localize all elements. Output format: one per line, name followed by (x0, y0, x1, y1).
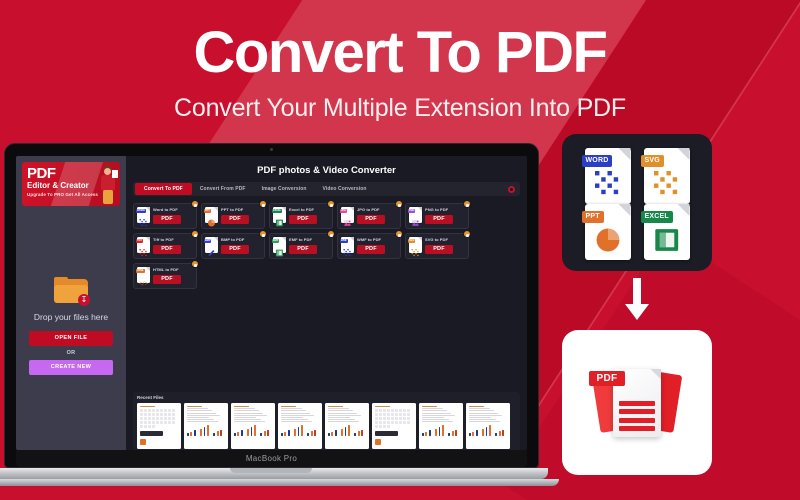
drop-zone-label: Drop your files here (34, 312, 108, 322)
folder-upload-icon: ↧ (54, 277, 88, 303)
conversion-card-label: EMF to PDF (289, 237, 329, 243)
card-badge-icon (191, 260, 199, 268)
recent-file-thumbnail[interactable] (466, 403, 510, 449)
conversion-card[interactable]: EXCELExcel to PDFPDF (269, 203, 333, 229)
card-badge-icon (191, 200, 199, 208)
source-file-icon: PPT (585, 204, 631, 260)
file-drop-zone[interactable]: ↧ Drop your files here OPEN FILE OR CREA… (22, 206, 120, 450)
conversion-card[interactable]: PNGPNG to PDFPDF (405, 203, 469, 229)
conversion-card-label: JPG to PDF (357, 207, 397, 213)
conversion-card[interactable]: JPGJPG to PDFPDF (337, 203, 401, 229)
tab-convert-from-pdf[interactable]: Convert From PDF (192, 182, 254, 196)
pdf-pill-label: PDF (221, 245, 249, 254)
pdf-badge-label: PDF (589, 371, 625, 386)
recent-file-thumbnail[interactable] (231, 403, 275, 449)
conversion-card[interactable]: HTML</>HTML to PDFPDF (133, 263, 197, 289)
source-file-tag: PPT (582, 211, 604, 223)
page-title: Convert To PDF (0, 24, 800, 82)
pdf-pill-label: PDF (425, 215, 453, 224)
conversion-card[interactable]: TIFFTiff to PDFPDF (133, 233, 197, 259)
person-illustration (100, 166, 116, 206)
source-files-panel: WORDSVGPPTEXCEL (562, 134, 712, 271)
card-badge-icon (259, 200, 267, 208)
tab-bar: Convert To PDFConvert From PDFImage Conv… (133, 182, 520, 196)
pdf-pill-label: PDF (221, 215, 249, 224)
recent-file-thumbnail[interactable] (137, 403, 181, 449)
source-file-icon: SVG (644, 148, 690, 204)
file-type-icon: PNG (409, 207, 422, 223)
file-type-icon: EMF (273, 237, 286, 253)
file-type-icon: PPT (205, 207, 218, 223)
page-subtitle: Convert Your Multiple Extension Into PDF (0, 94, 800, 123)
card-badge-icon (327, 200, 335, 208)
pdf-pill-label: PDF (357, 215, 385, 224)
open-file-button[interactable]: OPEN FILE (29, 331, 113, 346)
source-file-icon: EXCEL (644, 204, 690, 260)
pdf-document-icon: PDF (594, 360, 680, 446)
recent-file-thumbnail[interactable] (325, 403, 369, 449)
file-type-icon: WMF (341, 237, 354, 253)
tab-convert-to-pdf[interactable]: Convert To PDF (135, 183, 192, 195)
laptop-base (0, 468, 548, 479)
conversion-card-label: SVG to PDF (425, 237, 465, 243)
hero-header: Convert To PDF Convert Your Multiple Ext… (0, 0, 800, 123)
card-badge-icon (327, 230, 335, 238)
conversion-card-label: PNG to PDF (425, 207, 465, 213)
file-type-icon: EXCEL (273, 207, 286, 223)
conversion-card-grid: WORDWord to PDFPDFPPTPPT to PDFPDFEXCELE… (133, 203, 520, 289)
conversion-card[interactable]: EMFEMF to PDFPDF (269, 233, 333, 259)
recent-file-thumbnail[interactable] (372, 403, 416, 449)
pdf-pill-label: PDF (153, 245, 181, 254)
conversion-card-label: Tiff to PDF (153, 237, 193, 243)
webcam-icon (270, 148, 273, 151)
create-new-button[interactable]: CREATE NEW (29, 360, 113, 375)
conversion-card[interactable]: WORDWord to PDFPDF (133, 203, 197, 229)
card-badge-icon (463, 200, 471, 208)
pdf-result-panel: PDF (562, 330, 712, 475)
file-type-icon: JPG (341, 207, 354, 223)
card-badge-icon (395, 200, 403, 208)
laptop-mockup: PDF Editor & Creator Upgrade To PRO Get … (4, 143, 539, 486)
recent-file-thumbnail[interactable] (184, 403, 228, 449)
conversion-card-label: BMP to PDF (221, 237, 261, 243)
conversion-card[interactable]: WMFWMF to PDFPDF (337, 233, 401, 259)
recent-file-thumbnail[interactable] (278, 403, 322, 449)
app-title: PDF photos & Video Converter (133, 165, 520, 176)
conversion-card-label: Word to PDF (153, 207, 193, 213)
file-type-icon: WORD (137, 207, 150, 223)
card-badge-icon (395, 230, 403, 238)
arrow-down-icon (619, 278, 655, 322)
pdf-pill-label: PDF (425, 245, 453, 254)
source-file-tag: WORD (582, 155, 613, 167)
file-type-icon: HTML</> (137, 267, 150, 283)
source-file-tag: SVG (641, 155, 664, 167)
svg-text:</>: </> (139, 280, 148, 286)
pdf-pill-label: PDF (153, 275, 181, 284)
pdf-pill-label: PDF (357, 245, 385, 254)
conversion-card-label: PPT to PDF (221, 207, 261, 213)
tab-video-conversion[interactable]: Video Conversion (315, 182, 375, 196)
conversion-card-label: WMF to PDF (357, 237, 397, 243)
app-sidebar: PDF Editor & Creator Upgrade To PRO Get … (16, 156, 126, 450)
conversion-card-label: HTML to PDF (153, 267, 193, 273)
or-divider-label: OR (67, 350, 76, 356)
recent-files-panel: Recent Files (133, 392, 520, 450)
tab-image-conversion[interactable]: Image Conversion (254, 182, 315, 196)
pdf-pill-label: PDF (289, 245, 317, 254)
file-type-icon: SVG (409, 237, 422, 253)
source-file-tag: EXCEL (641, 211, 673, 223)
conversion-card[interactable]: SVGSVG to PDFPDF (405, 233, 469, 259)
card-badge-icon (259, 230, 267, 238)
conversion-card-label: Excel to PDF (289, 207, 329, 213)
file-type-icon: TIFF (137, 237, 150, 253)
recent-files-title: Recent Files (137, 395, 516, 400)
pdf-pill-label: PDF (289, 215, 317, 224)
recent-file-thumbnail[interactable] (419, 403, 463, 449)
app-window: PDF Editor & Creator Upgrade To PRO Get … (16, 156, 527, 450)
source-file-icon: WORD (585, 148, 631, 204)
laptop-base-foot (0, 479, 559, 486)
conversion-card[interactable]: BMPBMP to PDFPDF (201, 233, 265, 259)
promo-banner[interactable]: PDF Editor & Creator Upgrade To PRO Get … (22, 162, 120, 206)
conversion-card[interactable]: PPTPPT to PDFPDF (201, 203, 265, 229)
pdf-pill-label: PDF (153, 215, 181, 224)
gear-icon[interactable] (508, 186, 515, 193)
laptop-lid: PDF Editor & Creator Upgrade To PRO Get … (4, 143, 539, 468)
recent-files-list (137, 403, 516, 449)
app-main: PDF photos & Video Converter Convert To … (126, 156, 527, 450)
card-badge-icon (191, 230, 199, 238)
file-type-icon: BMP (205, 237, 218, 253)
laptop-model-label: MacBook Pro (16, 450, 527, 467)
card-badge-icon (463, 230, 471, 238)
